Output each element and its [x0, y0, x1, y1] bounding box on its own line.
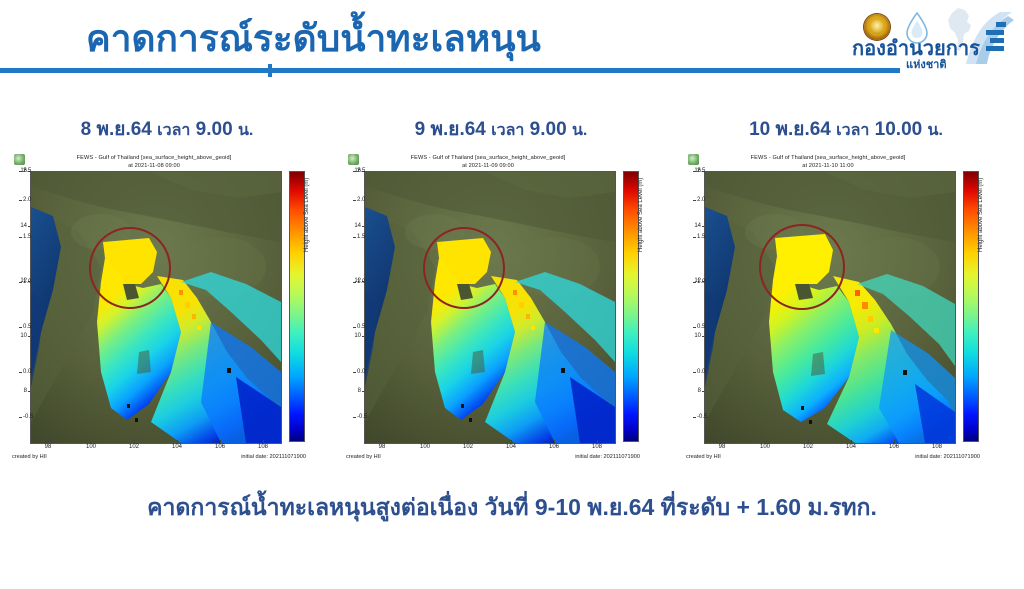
x-tick-108: 108 — [925, 444, 949, 451]
cbar-tick--0.5: -0.5 — [697, 414, 707, 421]
cbar-tick-1.5: 1.5 — [23, 234, 31, 241]
colorbar-label-1: Height above Sea Level (m) — [304, 178, 310, 252]
x-tick-104: 104 — [839, 444, 863, 451]
figure-1-title-line2: at 2021-11-08 09:00 — [22, 162, 286, 170]
header-divider-tick — [268, 64, 272, 77]
figure-3-title: FEWS - Gulf of Thailand [sea_surface_hei… — [696, 154, 960, 170]
y-tick-14: 14 — [8, 223, 27, 230]
panel-2-time-label: เวลา — [491, 122, 524, 139]
figure-3-credit: created by HII — [686, 454, 721, 461]
colorbar-3 — [963, 171, 979, 442]
cbar-tick-2.5: 2.5 — [697, 168, 705, 175]
cbar-tick-0.0: 0.0 — [23, 369, 31, 376]
y-tick-8: 8 — [682, 388, 701, 395]
map-canvas-1[interactable] — [30, 171, 282, 444]
cbar-tick-2.0: 2.0 — [697, 197, 705, 204]
panel-3-date: 10 พ.ย.64 — [749, 119, 831, 140]
map-figure-1: FEWS - Gulf of Thailand [sea_surface_hei… — [4, 152, 338, 470]
map-canvas-2[interactable] — [364, 171, 616, 444]
map-figure-3: FEWS - Gulf of Thailand [sea_surface_hei… — [678, 152, 1012, 470]
panel-caption-3: 10 พ.ย.64 เวลา 10.00 น. — [668, 118, 1024, 143]
x-tick-102: 102 — [122, 444, 146, 451]
x-tick-98: 98 — [370, 444, 394, 451]
x-tick-104: 104 — [165, 444, 189, 451]
x-tick-108: 108 — [251, 444, 275, 451]
cbar-tick-1.5: 1.5 — [357, 234, 365, 241]
figure-1-initial-date: initial date: 202111071900 — [241, 454, 306, 461]
cbar-tick-1.0: 1.0 — [357, 279, 365, 286]
panel-1-time-label: เวลา — [157, 122, 190, 139]
panel-2-unit: น. — [572, 122, 587, 139]
cbar-tick-0.5: 0.5 — [697, 324, 705, 331]
figure-1-title: FEWS - Gulf of Thailand [sea_surface_hei… — [22, 154, 286, 170]
x-tick-104: 104 — [499, 444, 523, 451]
cbar-tick-2.5: 2.5 — [357, 168, 365, 175]
panel-3-time-label: เวลา — [836, 122, 869, 139]
colorbar-label-2: Height above Sea Level (m) — [638, 178, 644, 252]
y-tick-10: 10 — [682, 333, 701, 340]
cbar-tick-1.0: 1.0 — [23, 279, 31, 286]
cbar-tick--0.5: -0.5 — [23, 414, 33, 421]
panel-1-date: 8 พ.ย.64 — [81, 119, 152, 140]
y-tick-14: 14 — [682, 223, 701, 230]
garuda-emblem-icon — [864, 14, 890, 40]
cbar-tick-2.0: 2.0 — [357, 197, 365, 204]
colorbar-label-3: Height above Sea Level (m) — [978, 178, 984, 252]
cbar-tick-1.5: 1.5 — [697, 234, 705, 241]
cbar-tick-1.0: 1.0 — [697, 279, 705, 286]
map-canvas-3[interactable] — [704, 171, 956, 444]
x-tick-108: 108 — [585, 444, 609, 451]
sea-level-heatmap-1 — [31, 172, 281, 443]
x-tick-100: 100 — [753, 444, 777, 451]
figure-3-title-line1: FEWS - Gulf of Thailand [sea_surface_hei… — [696, 154, 960, 162]
x-tick-102: 102 — [796, 444, 820, 451]
figure-3-initial-date: initial date: 202111071900 — [915, 454, 980, 461]
figure-2-title-line2: at 2021-11-09 09:00 — [356, 162, 620, 170]
cbar-tick--0.5: -0.5 — [357, 414, 367, 421]
figure-2-title-line1: FEWS - Gulf of Thailand [sea_surface_hei… — [356, 154, 620, 162]
x-tick-98: 98 — [710, 444, 734, 451]
map-figure-2: FEWS - Gulf of Thailand [sea_surface_hei… — [338, 152, 672, 470]
y-tick-8: 8 — [8, 388, 27, 395]
figure-3-title-line2: at 2021-11-10 11:00 — [696, 162, 960, 170]
panel-3-unit: น. — [928, 122, 943, 139]
y-tick-14: 14 — [342, 223, 361, 230]
panel-3-time: 10.00 — [875, 119, 923, 140]
logo-main-label: กองอำนวยการ — [852, 38, 980, 60]
cbar-tick-0.0: 0.0 — [697, 369, 705, 376]
figure-1-credit: created by HII — [12, 454, 47, 461]
colorbar-gradient-2 — [623, 171, 639, 442]
panel-2-time: 9.00 — [530, 119, 567, 140]
y-tick-10: 10 — [8, 333, 27, 340]
x-tick-98: 98 — [36, 444, 60, 451]
x-tick-100: 100 — [413, 444, 437, 451]
cbar-tick-0.5: 0.5 — [357, 324, 365, 331]
organization-logo: กองอำนวยการ แห่งชาติ — [842, 4, 1018, 78]
header-divider — [0, 68, 900, 73]
cbar-tick-0.5: 0.5 — [23, 324, 31, 331]
figure-1-title-line1: FEWS - Gulf of Thailand [sea_surface_hei… — [22, 154, 286, 162]
panel-1-time: 9.00 — [196, 119, 233, 140]
panel-caption-1: 8 พ.ย.64 เวลา 9.00 น. — [0, 118, 334, 143]
x-tick-106: 106 — [208, 444, 232, 451]
colorbar-gradient-3 — [963, 171, 979, 442]
figure-2-title: FEWS - Gulf of Thailand [sea_surface_hei… — [356, 154, 620, 170]
summary-caption: คาดการณ์น้ำทะเลหนุนสูงต่อเนื่อง วันที่ 9… — [0, 492, 1024, 522]
figure-2-initial-date: initial date: 202111071900 — [575, 454, 640, 461]
cbar-tick-0.0: 0.0 — [357, 369, 365, 376]
page-header: คาดการณ์ระดับน้ำทะเลหนุน กองอำนวยการ แห่… — [0, 0, 1024, 86]
sea-level-heatmap-3 — [705, 172, 955, 443]
page-title: คาดการณ์ระดับน้ำทะเลหนุน — [86, 16, 541, 62]
x-tick-106: 106 — [882, 444, 906, 451]
figure-2-credit: created by HII — [346, 454, 381, 461]
y-tick-10: 10 — [342, 333, 361, 340]
panel-caption-2: 9 พ.ย.64 เวลา 9.00 น. — [334, 118, 668, 143]
logo-sub-label: แห่งชาติ — [906, 59, 947, 71]
colorbar-gradient-1 — [289, 171, 305, 442]
colorbar-1 — [289, 171, 305, 442]
colorbar-2 — [623, 171, 639, 442]
panel-1-unit: น. — [238, 122, 253, 139]
cbar-tick-2.0: 2.0 — [23, 197, 31, 204]
sea-level-heatmap-2 — [365, 172, 615, 443]
y-tick-8: 8 — [342, 388, 361, 395]
panel-2-date: 9 พ.ย.64 — [415, 119, 486, 140]
x-tick-100: 100 — [79, 444, 103, 451]
x-tick-106: 106 — [542, 444, 566, 451]
cbar-tick-2.5: 2.5 — [23, 168, 31, 175]
x-tick-102: 102 — [456, 444, 480, 451]
